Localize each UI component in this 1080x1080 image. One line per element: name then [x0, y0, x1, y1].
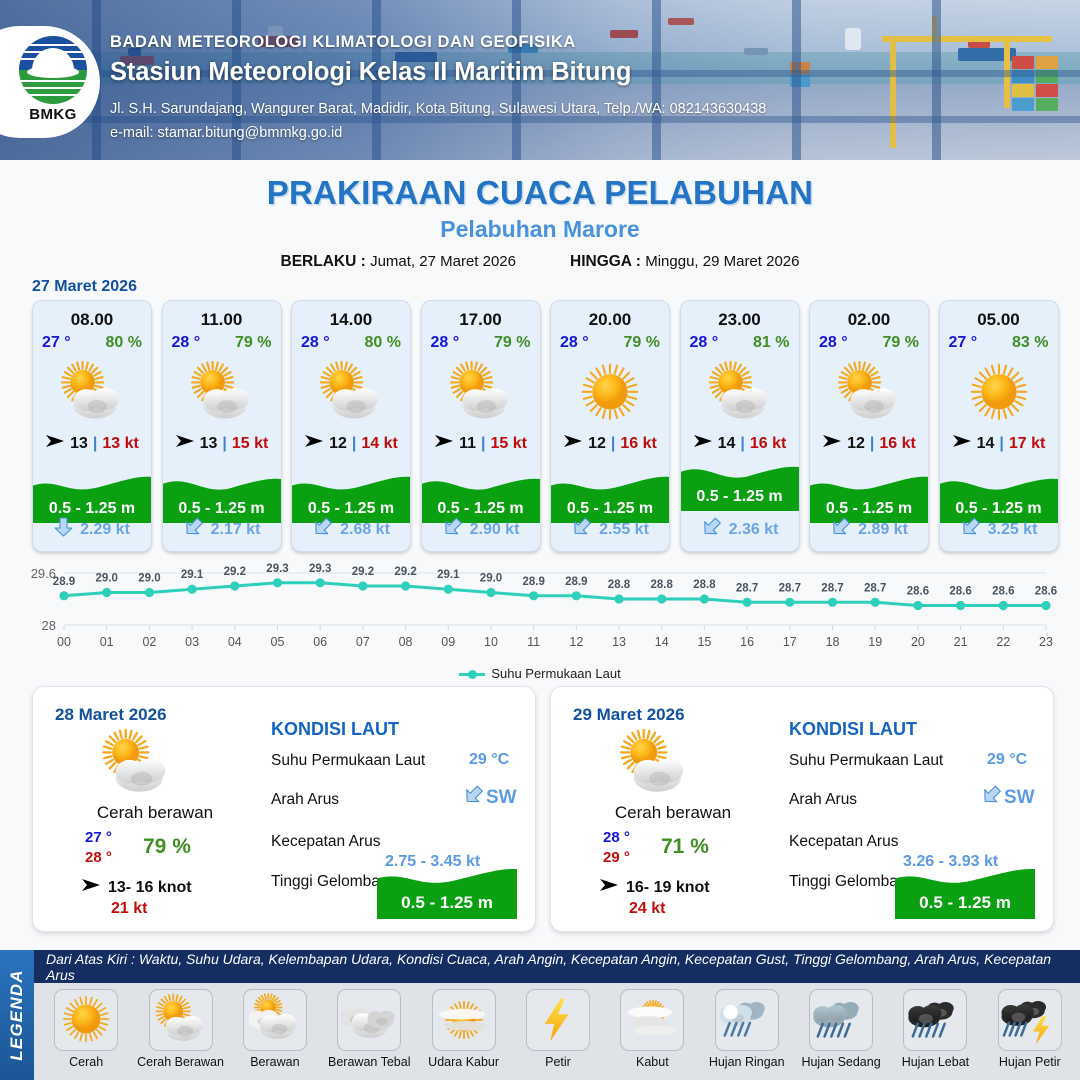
card-temperature: 28 ° [819, 334, 848, 352]
wind-separator: | [611, 435, 615, 453]
svg-text:08: 08 [399, 635, 413, 649]
current-direction-arrow-icon [54, 517, 73, 542]
wind-separator: | [740, 435, 744, 453]
card-temperature: 28 ° [690, 334, 719, 352]
station-name: Stasiun Meteorologi Kelas II Maritim Bit… [110, 58, 631, 87]
card-temp-humidity: 28 ° 81 % [681, 334, 799, 352]
card-gust-speed: 13 kt [102, 435, 138, 453]
card-humidity: 83 % [1012, 334, 1048, 352]
wind-direction-arrow-icon [952, 433, 972, 454]
card-wave-section: 0.5 - 1.25 m [681, 461, 799, 511]
legend-partly-sunny-icon [149, 989, 213, 1051]
card-current-row: 2.36 kt [681, 517, 799, 542]
panel-wind-speed: 16- 19 knot [626, 879, 710, 897]
card-wave-section: 0.5 - 1.25 m [551, 473, 669, 523]
card-humidity: 81 % [753, 334, 789, 352]
svg-text:28.8: 28.8 [693, 579, 716, 591]
card-temp-humidity: 27 ° 80 % [33, 334, 151, 352]
legend-lightning-icon [526, 989, 590, 1051]
svg-text:06: 06 [313, 635, 327, 649]
svg-text:28.7: 28.7 [736, 582, 758, 594]
card-wave-height: 0.5 - 1.25 m [681, 485, 799, 511]
legend-sunny-icon [54, 989, 118, 1051]
card-current-speed: 2.17 kt [211, 521, 261, 539]
panel-condition: Cerah berawan [573, 803, 773, 823]
valid-to-label: HINGGA : [570, 253, 641, 270]
chart-legend: Suhu Permukaan Laut [0, 666, 1080, 681]
station-address: Jl. S.H. Sarundajang, Wangurer Barat, Ma… [110, 101, 766, 117]
hourly-forecast-card: 17.00 28 ° 79 % 11 [421, 300, 541, 552]
legend-item: Cerah [40, 989, 132, 1069]
legend-note-bar: Dari Atas Kiri : Waktu, Suhu Udara, Kele… [34, 950, 1080, 983]
card-temp-humidity: 28 ° 79 % [422, 334, 540, 352]
svg-text:28.6: 28.6 [992, 586, 1014, 598]
card-wind-speed: 12 [329, 435, 347, 453]
card-wind-row: 12 | 14 kt [292, 433, 410, 454]
legend-item-label: Berawan [229, 1055, 321, 1069]
agency-name: BADAN METEOROLOGI KLIMATOLOGI DAN GEOFIS… [110, 33, 576, 52]
card-temp-humidity: 28 ° 80 % [292, 334, 410, 352]
legend-side-text: LEGENDA [7, 969, 27, 1061]
card-temperature: 28 ° [431, 334, 460, 352]
panel-temp-min: 28 ° [603, 829, 630, 846]
panel-sst-value: 29 °C [987, 751, 1027, 769]
wind-direction-arrow-icon [175, 433, 195, 454]
card-wind-speed: 11 [459, 435, 476, 453]
legend-item-label: Petir [512, 1055, 604, 1069]
panel-wave-value-box: 0.5 - 1.25 m [895, 865, 1035, 919]
card-wave-section: 0.5 - 1.25 m [163, 473, 281, 523]
wind-separator: | [93, 435, 97, 453]
legend-item-label: Berawan Tebal [323, 1055, 415, 1069]
legend-item: Kabut [606, 989, 698, 1069]
card-current-row: 2.68 kt [292, 517, 410, 542]
card-temp-humidity: 28 ° 79 % [810, 334, 928, 352]
legend-item-label: Cerah Berawan [134, 1055, 226, 1069]
card-time: 17.00 [422, 310, 540, 330]
card-wave-section: 0.5 - 1.25 m [33, 473, 151, 523]
svg-text:29.2: 29.2 [224, 566, 246, 578]
panel-current-dir-label: Arah Arus [271, 791, 339, 809]
legend-item-label: Hujan Lebat [889, 1055, 981, 1069]
svg-text:29.3: 29.3 [309, 563, 331, 575]
daily-forecast-panels: 28 Maret 2026 Cerah berawan 27 ° 28 ° 79… [32, 686, 1054, 932]
wave-shape-icon [940, 473, 1058, 497]
svg-text:11: 11 [527, 635, 540, 649]
card-weather-icon [551, 359, 669, 427]
svg-text:28.9: 28.9 [523, 576, 545, 588]
bmkg-logo-text: BMKG [16, 106, 90, 123]
card-wind-row: 13 | 13 kt [33, 433, 151, 454]
svg-text:05: 05 [271, 635, 285, 649]
svg-text:29.1: 29.1 [437, 569, 460, 581]
svg-text:02: 02 [142, 635, 156, 649]
svg-text:19: 19 [868, 635, 882, 649]
wind-direction-arrow-icon [434, 433, 454, 454]
current-direction-arrow-icon [981, 785, 1002, 810]
daily-forecast-panel: 28 Maret 2026 Cerah berawan 27 ° 28 ° 79… [32, 686, 536, 932]
card-wave-section: 0.5 - 1.25 m [810, 473, 928, 523]
svg-text:13: 13 [612, 635, 626, 649]
wind-separator: | [870, 435, 874, 453]
svg-text:14: 14 [655, 635, 669, 649]
legend-light-rain-icon [715, 989, 779, 1051]
page-title: PRAKIRAAN CUACA PELABUHAN [0, 174, 1080, 212]
chart-legend-marker-icon [459, 673, 485, 676]
legend-item: Petir [512, 989, 604, 1069]
panel-current-dir-value: SW [1004, 787, 1035, 809]
legend-heavy-rain-icon [903, 989, 967, 1051]
card-humidity: 79 % [883, 334, 919, 352]
wind-direction-arrow-icon [599, 877, 619, 898]
legend-item: Berawan [229, 989, 321, 1069]
card-current-row: 2.90 kt [422, 517, 540, 542]
svg-text:28.6: 28.6 [949, 586, 971, 598]
forecast-day-label: 27 Maret 2026 [32, 278, 137, 296]
legend-note-text: Dari Atas Kiri : Waktu, Suhu Udara, Kele… [46, 951, 1080, 983]
valid-to-value: Minggu, 29 Maret 2026 [645, 253, 799, 270]
panel-current-dir-value-group: SW [981, 785, 1035, 810]
svg-text:29.0: 29.0 [138, 573, 160, 585]
panel-wave-height: 0.5 - 1.25 m [895, 891, 1035, 919]
svg-text:28: 28 [42, 618, 56, 633]
card-wind-speed: 13 [200, 435, 218, 453]
card-current-speed: 3.25 kt [988, 521, 1038, 539]
card-gust-speed: 16 kt [750, 435, 786, 453]
wind-separator: | [222, 435, 226, 453]
valid-from-label: BERLAKU : [281, 253, 366, 270]
svg-text:04: 04 [228, 635, 242, 649]
card-current-speed: 2.36 kt [729, 521, 779, 539]
card-current-row: 2.55 kt [551, 517, 669, 542]
card-current-row: 2.17 kt [163, 517, 281, 542]
header-banner: BMKG BADAN METEOROLOGI KLIMATOLOGI DAN G… [0, 0, 1080, 160]
svg-text:22: 22 [996, 635, 1010, 649]
hourly-forecast-card: 20.00 28 ° 79 % 12 | 16 kt [550, 300, 670, 552]
svg-text:29.3: 29.3 [266, 563, 288, 575]
svg-text:21: 21 [954, 635, 968, 649]
card-time: 11.00 [163, 310, 281, 330]
panel-gust: 24 kt [629, 900, 665, 918]
panel-date: 29 Maret 2026 [573, 705, 685, 725]
validity-period: BERLAKU : Jumat, 27 Maret 2026 HINGGA : … [0, 253, 1080, 271]
legend-cloudy-icon [243, 989, 307, 1051]
svg-text:28.8: 28.8 [651, 579, 674, 591]
legend-haze-icon [432, 989, 496, 1051]
card-wind-row: 12 | 16 kt [551, 433, 669, 454]
card-weather-icon [810, 359, 928, 427]
svg-text:00: 00 [57, 635, 71, 649]
card-current-speed: 2.89 kt [858, 521, 908, 539]
legend-icon-row: Cerah Cerah Berawan [34, 983, 1080, 1080]
card-current-row: 3.25 kt [940, 517, 1058, 542]
current-direction-arrow-icon [960, 517, 981, 542]
legend-item-label: Kabut [606, 1055, 698, 1069]
svg-text:16: 16 [740, 635, 754, 649]
card-gust-speed: 14 kt [361, 435, 397, 453]
card-gust-speed: 16 kt [879, 435, 915, 453]
current-direction-arrow-icon [830, 517, 851, 542]
card-wind-row: 12 | 16 kt [810, 433, 928, 454]
panel-sea-title: KONDISI LAUT [789, 719, 917, 740]
card-wind-speed: 14 [718, 435, 736, 453]
svg-text:28.9: 28.9 [565, 576, 587, 588]
valid-from: BERLAKU : Jumat, 27 Maret 2026 [281, 253, 516, 271]
card-wave-section: 0.5 - 1.25 m [940, 473, 1058, 523]
panel-temp-max: 29 ° [603, 849, 630, 866]
legend-overcast-icon [337, 989, 401, 1051]
card-temp-humidity: 27 ° 83 % [940, 334, 1058, 352]
current-direction-arrow-icon [571, 517, 592, 542]
wind-separator: | [481, 435, 485, 453]
wind-direction-arrow-icon [304, 433, 324, 454]
card-humidity: 80 % [365, 334, 401, 352]
panel-wind: 16- 19 knot [599, 877, 710, 898]
svg-text:28.9: 28.9 [53, 576, 75, 588]
panel-weather-icon [609, 729, 699, 799]
svg-text:29.0: 29.0 [96, 573, 118, 585]
valid-from-value: Jumat, 27 Maret 2026 [370, 253, 516, 270]
chart-legend-label: Suhu Permukaan Laut [491, 666, 620, 681]
wave-shape-icon [681, 461, 799, 485]
daily-forecast-panel: 29 Maret 2026 Cerah berawan 28 ° 29 ° 71… [550, 686, 1054, 932]
card-temperature: 27 ° [949, 334, 978, 352]
svg-text:28.7: 28.7 [779, 582, 801, 594]
card-weather-icon [292, 359, 410, 427]
panel-current-dir-value-group: SW [463, 785, 517, 810]
card-time: 23.00 [681, 310, 799, 330]
panel-sea-title: KONDISI LAUT [271, 719, 399, 740]
legend-item-label: Hujan Sedang [795, 1055, 887, 1069]
svg-text:09: 09 [441, 635, 455, 649]
card-current-speed: 2.55 kt [599, 521, 649, 539]
panel-gust: 21 kt [111, 900, 147, 918]
card-gust-speed: 17 kt [1009, 435, 1045, 453]
wind-direction-arrow-icon [81, 877, 101, 898]
current-direction-arrow-icon [701, 517, 722, 542]
card-humidity: 79 % [494, 334, 530, 352]
card-temperature: 28 ° [301, 334, 330, 352]
card-weather-icon [33, 359, 151, 427]
legend-side-label: LEGENDA [0, 950, 34, 1080]
hourly-forecast-row: 08.00 27 ° 80 % 13 [32, 300, 1059, 552]
panel-sst-label: Suhu Permukaan Laut [789, 752, 943, 770]
wave-shape-icon [422, 473, 540, 497]
hourly-forecast-card: 08.00 27 ° 80 % 13 [32, 300, 152, 552]
wave-shape-icon [551, 473, 669, 497]
panel-condition: Cerah berawan [55, 803, 255, 823]
svg-text:17: 17 [783, 635, 797, 649]
legend-item: Udara Kabur [417, 989, 509, 1069]
valid-to: HINGGA : Minggu, 29 Maret 2026 [570, 253, 799, 271]
card-wave-section: 0.5 - 1.25 m [292, 473, 410, 523]
card-current-speed: 2.90 kt [470, 521, 520, 539]
legend-item-label: Hujan Petir [984, 1055, 1076, 1069]
panel-current-speed-label: Kecepatan Arus [789, 833, 898, 851]
legend-item: Hujan Lebat [889, 989, 981, 1069]
legend-fog-icon [620, 989, 684, 1051]
card-wind-speed: 14 [977, 435, 995, 453]
svg-text:23: 23 [1039, 635, 1053, 649]
legend-thunderstorm-icon [998, 989, 1062, 1051]
hourly-forecast-card: 05.00 27 ° 83 % 14 | 17 kt [939, 300, 1059, 552]
card-weather-icon [940, 359, 1058, 427]
sst-chart: 29.6280001020304050607080910111213141516… [0, 556, 1080, 684]
panel-humidity: 79 % [143, 835, 191, 859]
card-temp-humidity: 28 ° 79 % [551, 334, 669, 352]
svg-text:10: 10 [484, 635, 498, 649]
svg-text:28.8: 28.8 [608, 579, 631, 591]
card-temperature: 28 ° [560, 334, 589, 352]
card-current-row: 2.89 kt [810, 517, 928, 542]
legend-section: LEGENDA Dari Atas Kiri : Waktu, Suhu Uda… [0, 950, 1080, 1080]
legend-item: Hujan Ringan [701, 989, 793, 1069]
svg-text:12: 12 [569, 635, 583, 649]
panel-current-speed-label: Kecepatan Arus [271, 833, 380, 851]
legend-item: Berawan Tebal [323, 989, 415, 1069]
svg-text:20: 20 [911, 635, 925, 649]
card-time: 08.00 [33, 310, 151, 330]
panel-sst-label: Suhu Permukaan Laut [271, 752, 425, 770]
card-wind-row: 11 | 15 kt [422, 433, 540, 454]
legend-moderate-rain-icon [809, 989, 873, 1051]
card-gust-speed: 15 kt [490, 435, 526, 453]
svg-text:29.2: 29.2 [394, 566, 416, 578]
wave-shape-icon [810, 473, 928, 497]
current-direction-arrow-icon [442, 517, 463, 542]
card-humidity: 79 % [624, 334, 660, 352]
svg-text:15: 15 [697, 635, 711, 649]
bmkg-logo: BMKG [0, 26, 100, 138]
bmkg-emblem-icon [19, 36, 87, 104]
wind-direction-arrow-icon [45, 433, 65, 454]
card-time: 20.00 [551, 310, 669, 330]
page-subtitle: Pelabuhan Marore [0, 216, 1080, 243]
panel-sst-value: 29 °C [469, 751, 509, 769]
current-direction-arrow-icon [183, 517, 204, 542]
card-wind-row: 14 | 16 kt [681, 433, 799, 454]
panel-current-dir-value: SW [486, 787, 517, 809]
card-time: 14.00 [292, 310, 410, 330]
panel-wind-speed: 13- 16 knot [108, 879, 192, 897]
panel-weather-icon [91, 729, 181, 799]
card-current-speed: 2.29 kt [80, 521, 130, 539]
card-wave-section: 0.5 - 1.25 m [422, 473, 540, 523]
card-temperature: 27 ° [42, 334, 71, 352]
card-weather-icon [163, 359, 281, 427]
card-gust-speed: 16 kt [620, 435, 656, 453]
svg-text:07: 07 [356, 635, 370, 649]
current-direction-arrow-icon [463, 785, 484, 810]
card-humidity: 80 % [106, 334, 142, 352]
card-time: 02.00 [810, 310, 928, 330]
svg-text:28.7: 28.7 [821, 582, 843, 594]
legend-item-label: Udara Kabur [417, 1055, 509, 1069]
svg-text:28.6: 28.6 [1035, 586, 1057, 598]
card-weather-icon [422, 359, 540, 427]
wave-shape-icon [33, 473, 151, 497]
panel-wind: 13- 16 knot [81, 877, 192, 898]
svg-text:29.1: 29.1 [181, 569, 204, 581]
panel-date: 28 Maret 2026 [55, 705, 167, 725]
card-temp-humidity: 28 ° 79 % [163, 334, 281, 352]
current-direction-arrow-icon [312, 517, 333, 542]
panel-temp-min: 27 ° [85, 829, 112, 846]
legend-item: Hujan Sedang [795, 989, 887, 1069]
wind-separator: | [999, 435, 1003, 453]
svg-text:01: 01 [100, 635, 114, 649]
card-wind-row: 13 | 15 kt [163, 433, 281, 454]
wave-shape-icon [895, 865, 1035, 891]
hourly-forecast-card: 23.00 28 ° 81 % 14 [680, 300, 800, 552]
panel-wave-height: 0.5 - 1.25 m [377, 891, 517, 919]
card-gust-speed: 15 kt [232, 435, 268, 453]
svg-text:28.7: 28.7 [864, 582, 886, 594]
svg-text:29.0: 29.0 [480, 573, 502, 585]
panel-humidity: 71 % [661, 835, 709, 859]
sst-chart-svg: 29.6280001020304050607080910111213141516… [0, 556, 1080, 684]
card-weather-icon [681, 359, 799, 427]
legend-item-label: Cerah [40, 1055, 132, 1069]
legend-item: Hujan Petir [984, 989, 1076, 1069]
wind-separator: | [352, 435, 356, 453]
hourly-forecast-card: 11.00 28 ° 79 % 13 [162, 300, 282, 552]
wave-shape-icon [377, 865, 517, 891]
legend-item: Cerah Berawan [134, 989, 226, 1069]
wind-direction-arrow-icon [563, 433, 583, 454]
legend-item-label: Hujan Ringan [701, 1055, 793, 1069]
wave-shape-icon [292, 473, 410, 497]
svg-text:03: 03 [185, 635, 199, 649]
card-time: 05.00 [940, 310, 1058, 330]
card-humidity: 79 % [235, 334, 271, 352]
card-wind-row: 14 | 17 kt [940, 433, 1058, 454]
card-current-row: 2.29 kt [33, 517, 151, 542]
svg-text:29.2: 29.2 [352, 566, 374, 578]
hourly-forecast-card: 02.00 28 ° 79 % 12 [809, 300, 929, 552]
card-wind-speed: 13 [70, 435, 88, 453]
hourly-forecast-card: 14.00 28 ° 80 % 12 [291, 300, 411, 552]
station-email: e-mail: stamar.bitung@bmmkg.go.id [110, 125, 342, 141]
card-wind-speed: 12 [847, 435, 865, 453]
panel-temp-max: 28 ° [85, 849, 112, 866]
card-temperature: 28 ° [172, 334, 201, 352]
wind-direction-arrow-icon [822, 433, 842, 454]
card-current-speed: 2.68 kt [340, 521, 390, 539]
wave-shape-icon [163, 473, 281, 497]
svg-text:18: 18 [826, 635, 840, 649]
panel-wave-value-box: 0.5 - 1.25 m [377, 865, 517, 919]
card-wind-speed: 12 [588, 435, 606, 453]
panel-current-dir-label: Arah Arus [789, 791, 857, 809]
wind-direction-arrow-icon [693, 433, 713, 454]
svg-text:28.6: 28.6 [907, 586, 929, 598]
